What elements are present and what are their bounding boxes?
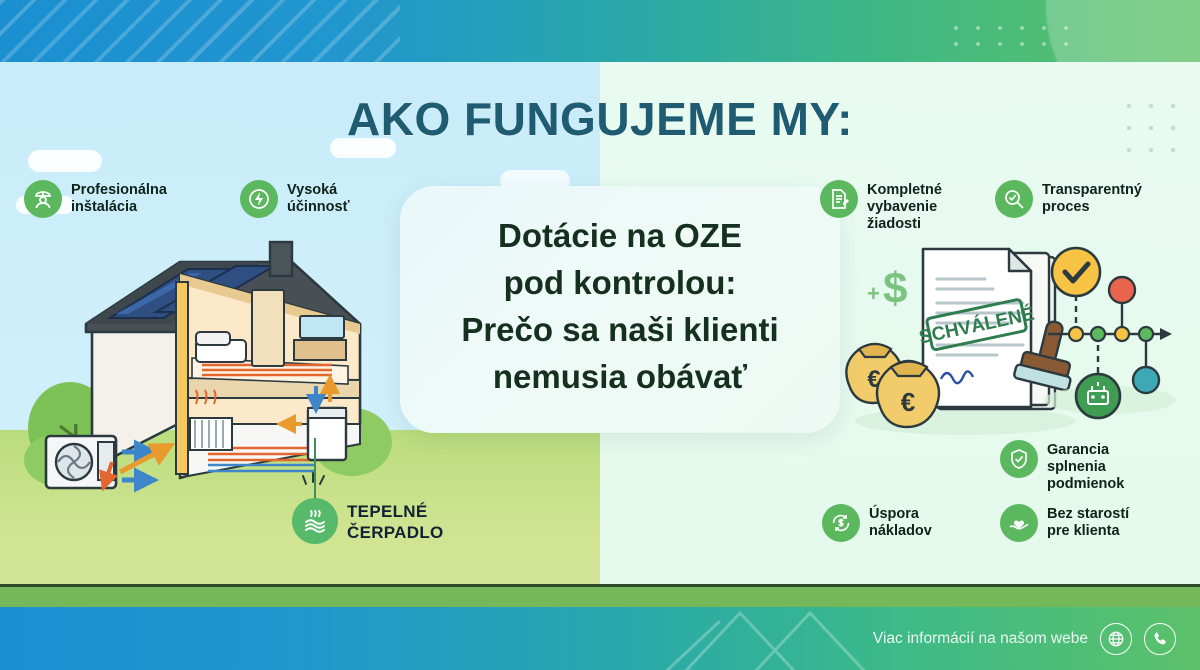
badge-label: Bez starostí pre klienta — [1047, 504, 1129, 540]
heat-wave-icon — [292, 498, 338, 544]
banner-stripes-decoration — [0, 0, 400, 62]
page-title: AKO FUNGUJEME MY: — [0, 92, 1200, 146]
badge-label: Garancia splnenia podmienok — [1047, 440, 1124, 493]
spark-decoration — [300, 470, 330, 488]
badge-label: Úspora nákladov — [869, 504, 932, 540]
badge-label: TEPELNÉ ČERPADLO — [347, 498, 444, 543]
globe-icon[interactable] — [1100, 623, 1132, 655]
plus-symbol: + — [867, 281, 880, 306]
badge-garancia-splnenia-podmienok[interactable]: Garancia splnenia podmienok — [1000, 440, 1175, 493]
euro-symbol: € — [901, 387, 915, 417]
main-message-text: Dotácie na OZE pod kontrolou: Prečo sa n… — [400, 212, 840, 400]
cloud-decoration — [28, 150, 102, 172]
document-pen-icon — [820, 180, 858, 218]
badge-uspora-nakladov[interactable]: Úspora nákladov — [822, 504, 972, 542]
lightning-bolt-icon — [240, 180, 278, 218]
worker-helmet-icon — [24, 180, 62, 218]
dollar-symbol: $ — [883, 264, 907, 313]
footer-content: Viac informácií na našom webe — [873, 607, 1176, 670]
badge-label: Profesionálna inštalácia — [71, 180, 167, 216]
dollar-recycle-icon — [822, 504, 860, 542]
badge-transparentny-proces[interactable]: Transparentný proces — [995, 180, 1165, 218]
banner-dots-decoration — [945, 20, 1075, 46]
shield-check-icon — [1000, 440, 1038, 478]
badge-vysoka-ucinnost[interactable]: Vysoká účinnosť — [240, 180, 390, 218]
green-strip — [0, 587, 1200, 607]
top-banner — [0, 0, 1200, 62]
badge-kompletne-vybavenie-ziadosti[interactable]: Kompletné vybavenie žiadosti — [820, 180, 985, 233]
badge-bez-starosti-pre-klienta[interactable]: Bez starostí pre klienta — [1000, 504, 1170, 542]
main-message-card: Dotácie na OZE pod kontrolou: Prečo sa n… — [400, 186, 840, 433]
phone-icon[interactable] — [1144, 623, 1176, 655]
infographic-canvas: AKO FUNGUJEME MY: — [0, 0, 1200, 670]
badge-profesionalna-instalacia[interactable]: Profesionálna inštalácia — [24, 180, 224, 218]
badge-label: Kompletné vybavenie žiadosti — [867, 180, 942, 233]
badge-label: Transparentný proces — [1042, 180, 1142, 216]
process-flow-illustration — [1048, 248, 1200, 430]
badge-tepelne-cerpadlo[interactable]: TEPELNÉ ČERPADLO — [292, 498, 462, 544]
footer-text: Viac informácií na našom webe — [873, 630, 1088, 648]
hand-heart-icon — [1000, 504, 1038, 542]
badge-label: Vysoká účinnosť — [287, 180, 350, 216]
magnifier-check-icon — [995, 180, 1033, 218]
